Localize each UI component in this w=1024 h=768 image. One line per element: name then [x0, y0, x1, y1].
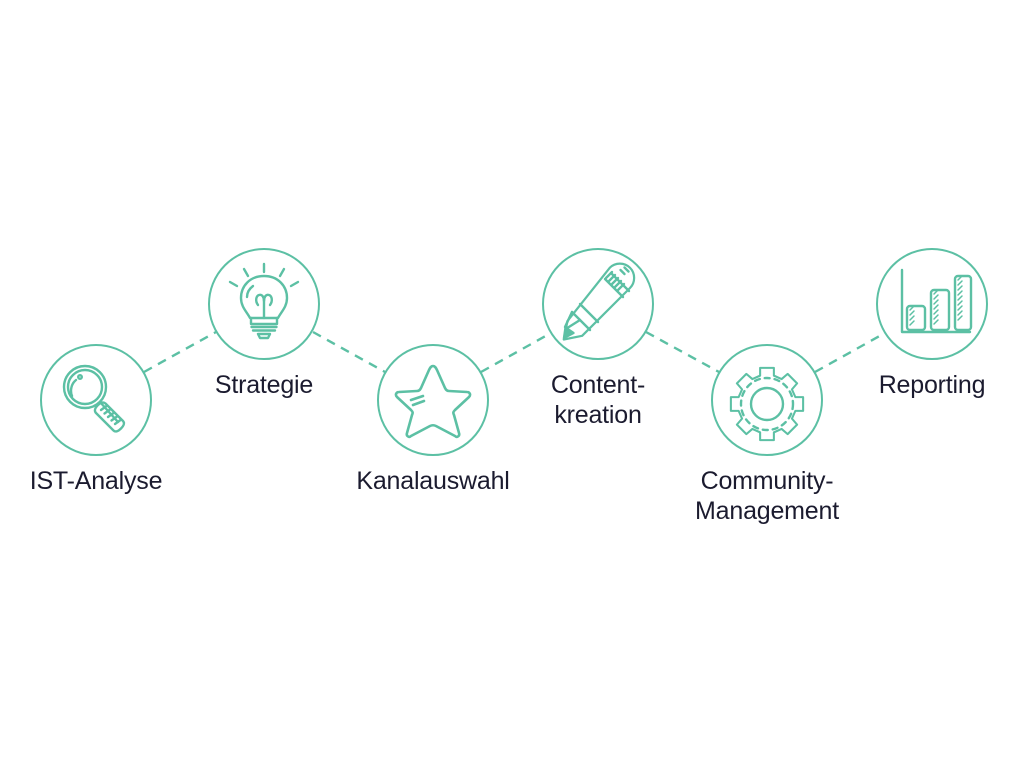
step-label: Strategie [114, 370, 414, 400]
gear-icon [711, 344, 823, 456]
connector-strategie-kanalauswahl [313, 332, 385, 372]
step-label: Kanalauswahl [283, 466, 583, 496]
process-infographic: IST-Analyse Strategie [0, 0, 1024, 768]
bar-chart-icon [876, 248, 988, 360]
step-label: Community- Management [617, 466, 917, 526]
lightbulb-icon [208, 248, 320, 360]
step-label: Content- kreation [448, 370, 748, 430]
connector-kanalauswahl-contentkreation [481, 333, 551, 372]
connector-ist-analyse-strategie [144, 332, 216, 372]
step-label: IST-Analyse [0, 466, 246, 496]
step-label: Reporting [782, 370, 1024, 400]
magnifier-icon [40, 344, 152, 456]
connector-community-management-reporting [815, 333, 885, 372]
pencil-icon [542, 248, 654, 360]
connector-contentkreation-community-management [646, 332, 719, 372]
